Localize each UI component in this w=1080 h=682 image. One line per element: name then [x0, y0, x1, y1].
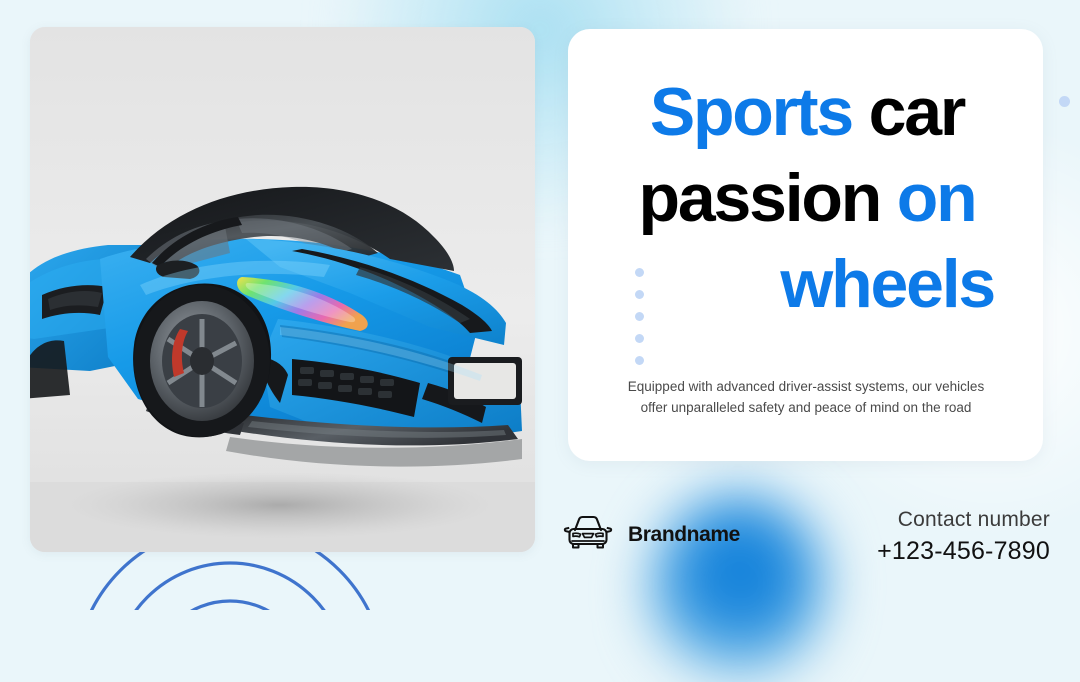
body-paragraph-line-2: offer unparalleled safety and peace of m…: [616, 397, 996, 418]
decorative-dot: [635, 290, 644, 299]
body-paragraph-line-1: Equipped with advanced driver-assist sys…: [616, 376, 996, 397]
headline-line-3: wheels: [592, 241, 1022, 327]
car-front-icon: [562, 512, 614, 557]
decorative-dot-right-edge: [1059, 96, 1070, 107]
dot-column-decoration: [635, 268, 644, 365]
headline-line-2: passion on: [592, 155, 1022, 241]
decorative-dot: [635, 356, 644, 365]
headline-word-passion: passion: [639, 160, 881, 236]
content-card: Sports car passion on wheels Equipped wi…: [568, 29, 1043, 461]
headline-word-wheels: wheels: [780, 246, 994, 322]
headline-word-car: car: [852, 74, 964, 150]
decorative-dot: [635, 334, 644, 343]
contact-label: Contact number: [877, 505, 1050, 535]
car-photo-illustration: [30, 27, 535, 552]
body-paragraph: Equipped with advanced driver-assist sys…: [616, 376, 996, 418]
page-title: Sports car passion on wheels: [592, 69, 1022, 327]
decorative-dot: [635, 312, 644, 321]
brand-logo-block[interactable]: Brandname: [562, 512, 740, 557]
car-photo-card: [30, 27, 535, 552]
headline-word-on: on: [880, 160, 975, 236]
contact-phone-number[interactable]: +123-456-7890: [877, 535, 1050, 567]
headline-word-sports: Sports: [650, 74, 852, 150]
decorative-dot: [635, 268, 644, 277]
brand-name-label: Brandname: [628, 523, 740, 547]
contact-block: Contact number +123-456-7890: [877, 505, 1050, 567]
headline-line-1: Sports car: [592, 69, 1022, 155]
